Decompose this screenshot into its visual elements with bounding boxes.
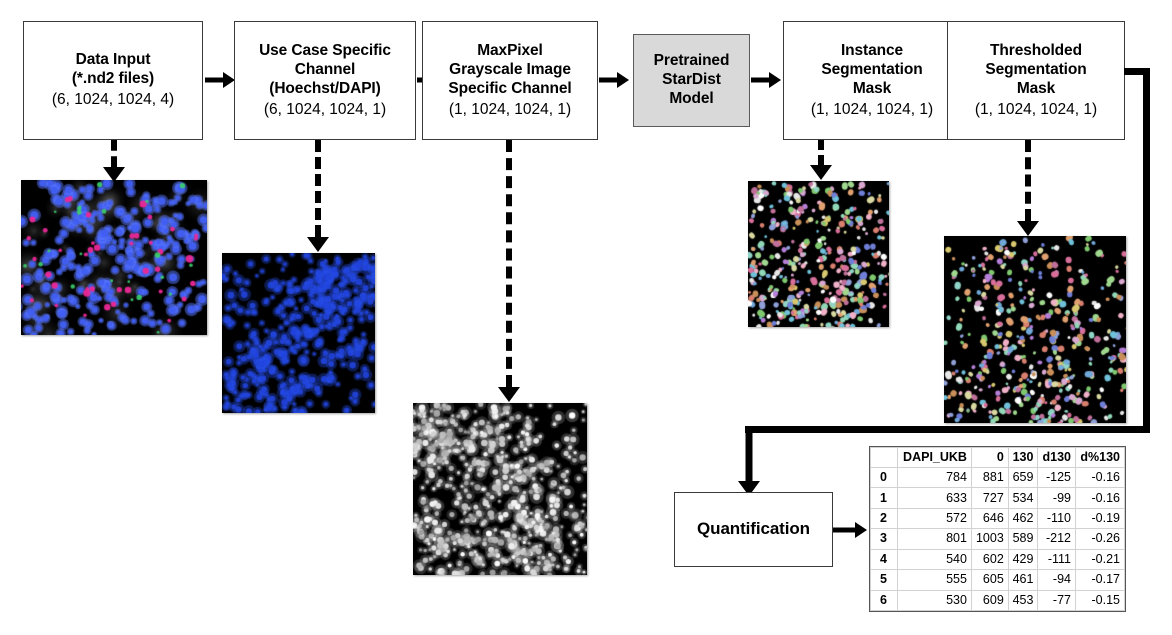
table-cell: 727 (971, 488, 1008, 508)
table-cell: 633 (898, 488, 972, 508)
table-cell: -125 (1038, 468, 1076, 488)
table-cell: -0.16 (1075, 468, 1124, 488)
node-quantification[interactable]: Quantification (674, 492, 833, 567)
panel-instance-mask (748, 181, 889, 327)
table-row-index: 3 (871, 529, 898, 549)
panel-dapi-canvas (222, 253, 375, 413)
panel-thresholded-mask-canvas (944, 236, 1126, 423)
table-row-index: 6 (871, 590, 898, 610)
panel-grayscale (413, 403, 587, 575)
node-stardist-model[interactable]: Pretrained StarDist Model (633, 34, 750, 127)
panel-thresholded-mask (944, 236, 1126, 423)
node-title-line2: StarDist (662, 71, 721, 90)
arrow-shaft (315, 140, 321, 237)
elbow-segment-bottom (745, 426, 1150, 433)
table-row[interactable]: 4540602429-111-0.21 (871, 549, 1125, 569)
table-row-index: 4 (871, 549, 898, 569)
table-row-index: 1 (871, 488, 898, 508)
table-row[interactable]: 5555605461-94-0.17 (871, 570, 1125, 590)
table-header-d130: d130 (1038, 448, 1076, 468)
arrow-shaft (1025, 140, 1031, 221)
node-shape: (1, 1024, 1024, 1) (975, 100, 1097, 119)
table-header-index (871, 448, 898, 468)
arrow-shaft (746, 426, 753, 482)
arrow-shaft (833, 528, 855, 533)
arrow-thresholded-to-panel (1016, 140, 1040, 236)
table-header-dpct130: d%130 (1075, 448, 1124, 468)
table-cell: 881 (971, 468, 1008, 488)
table-header-0: 0 (971, 448, 1008, 468)
table-cell: 646 (971, 508, 1008, 528)
node-title-line2: Segmentation (821, 61, 922, 80)
pipeline-diagram: Data Input (*.nd2 files) (6, 1024, 1024,… (0, 0, 1172, 635)
table-cell: 462 (1008, 508, 1038, 528)
table-cell: -77 (1038, 590, 1076, 610)
table-cell: 605 (971, 570, 1008, 590)
node-thresholded-mask[interactable]: Thresholded Segmentation Mask (1, 1024, … (947, 21, 1125, 140)
table-cell: 801 (898, 529, 972, 549)
table-cell: 784 (898, 468, 972, 488)
table-cell: -0.16 (1075, 488, 1124, 508)
arrow-head (307, 237, 329, 252)
table-row[interactable]: 38011003589-212-0.26 (871, 529, 1125, 549)
table-cell: 461 (1008, 570, 1038, 590)
table-cell: -0.19 (1075, 508, 1124, 528)
node-title-line2: Grayscale Image (449, 61, 571, 80)
node-maxpixel-grayscale[interactable]: MaxPixel Grayscale Image Specific Channe… (422, 21, 598, 140)
node-shape: (6, 1024, 1024, 4) (52, 90, 174, 109)
arrow-head (498, 387, 520, 402)
arrow-shaft (599, 78, 617, 83)
table-body: 0784881659-125-0.161633727534-99-0.16257… (871, 468, 1125, 611)
node-title-line1: Pretrained (654, 52, 730, 71)
panel-dapi (222, 253, 375, 413)
node-shape: (1, 1024, 1024, 1) (449, 100, 571, 119)
table-row-index: 0 (871, 468, 898, 488)
table-cell: -94 (1038, 570, 1076, 590)
node-shape: (6, 1024, 1024, 1) (264, 100, 386, 119)
table-cell: 429 (1008, 549, 1038, 569)
table-header-row: DAPI_UKB 0 130 d130 d%130 (871, 448, 1125, 468)
table-cell: -110 (1038, 508, 1076, 528)
node-title-line3: Specific Channel (448, 80, 571, 99)
table-header-130: 130 (1008, 448, 1038, 468)
table-cell: -0.17 (1075, 570, 1124, 590)
node-use-case-channel[interactable]: Use Case Specific Channel (Hoechst/DAPI)… (234, 21, 416, 140)
table-cell: 540 (898, 549, 972, 569)
arrow-head (810, 165, 832, 180)
table-cell: -99 (1038, 488, 1076, 508)
node-title-line3: (Hoechst/DAPI) (269, 80, 380, 99)
node-shape: (1, 1024, 1024, 1) (811, 100, 933, 119)
node-title-line3: Mask (853, 80, 891, 99)
table-cell: 602 (971, 549, 1008, 569)
table-header-dapi-ukb: DAPI_UKB (898, 448, 972, 468)
table-cell: -0.26 (1075, 529, 1124, 549)
arrow-maxpixel-to-panel (497, 140, 521, 402)
panel-grayscale-canvas (413, 403, 587, 575)
table-cell: -212 (1038, 529, 1076, 549)
node-title-line1: Instance (841, 42, 903, 61)
arrow-head (769, 72, 781, 88)
node-title-line3: Mask (1017, 80, 1055, 99)
node-title-line3: Model (669, 90, 713, 109)
table-row[interactable]: 6530609453-77-0.15 (871, 590, 1125, 610)
node-title-line1: Thresholded (990, 42, 1082, 61)
node-title-line1: MaxPixel (477, 42, 543, 61)
table-cell: 572 (898, 508, 972, 528)
table-cell: -0.21 (1075, 549, 1124, 569)
elbow-segment-vertical-right (1143, 68, 1150, 433)
panel-multichannel-canvas (21, 180, 207, 335)
quantification-table[interactable]: DAPI_UKB 0 130 d130 d%130 0784881659-125… (869, 446, 1126, 612)
table-cell: 530 (898, 590, 972, 610)
table-cell: 534 (1008, 488, 1038, 508)
node-title-line2: (*.nd2 files) (72, 70, 154, 89)
table-row[interactable]: 0784881659-125-0.16 (871, 468, 1125, 488)
node-data-input[interactable]: Data Input (*.nd2 files) (6, 1024, 1024,… (23, 21, 203, 140)
arrow-shaft (751, 78, 769, 83)
arrow-head (617, 72, 629, 88)
elbow-arrow-into-quantification (738, 426, 760, 496)
arrow-shaft (111, 140, 117, 167)
panel-multichannel (21, 180, 207, 335)
table-cell: 659 (1008, 468, 1038, 488)
arrow-shaft (205, 78, 223, 83)
node-title-line2: Segmentation (985, 61, 1086, 80)
panel-instance-mask-canvas (748, 181, 889, 327)
table-cell: 453 (1008, 590, 1038, 610)
table-cell: -0.15 (1075, 590, 1124, 610)
node-instance-mask[interactable]: Instance Segmentation Mask (1, 1024, 102… (783, 21, 961, 140)
node-title-line2: Channel (295, 61, 355, 80)
table-cell: 555 (898, 570, 972, 590)
table-cell: 1003 (971, 529, 1008, 549)
table-row-index: 2 (871, 508, 898, 528)
table-row[interactable]: 2572646462-110-0.19 (871, 508, 1125, 528)
arrow-instance-to-panel (809, 140, 833, 180)
node-title-line1: Data Input (76, 51, 151, 70)
table-row-index: 5 (871, 570, 898, 590)
table-cell: 609 (971, 590, 1008, 610)
arrow-shaft (506, 140, 512, 387)
table-row[interactable]: 1633727534-99-0.16 (871, 488, 1125, 508)
table-cell: -111 (1038, 549, 1076, 569)
arrow-head (1017, 221, 1039, 236)
arrow-data-input-to-panel (102, 140, 126, 182)
arrow-shaft (818, 140, 824, 165)
node-title-line1: Quantification (697, 519, 810, 540)
arrow-head (855, 522, 867, 538)
table-cell: 589 (1008, 529, 1038, 549)
arrow-channel-to-panel (306, 140, 330, 252)
node-title-line1: Use Case Specific (259, 42, 391, 61)
